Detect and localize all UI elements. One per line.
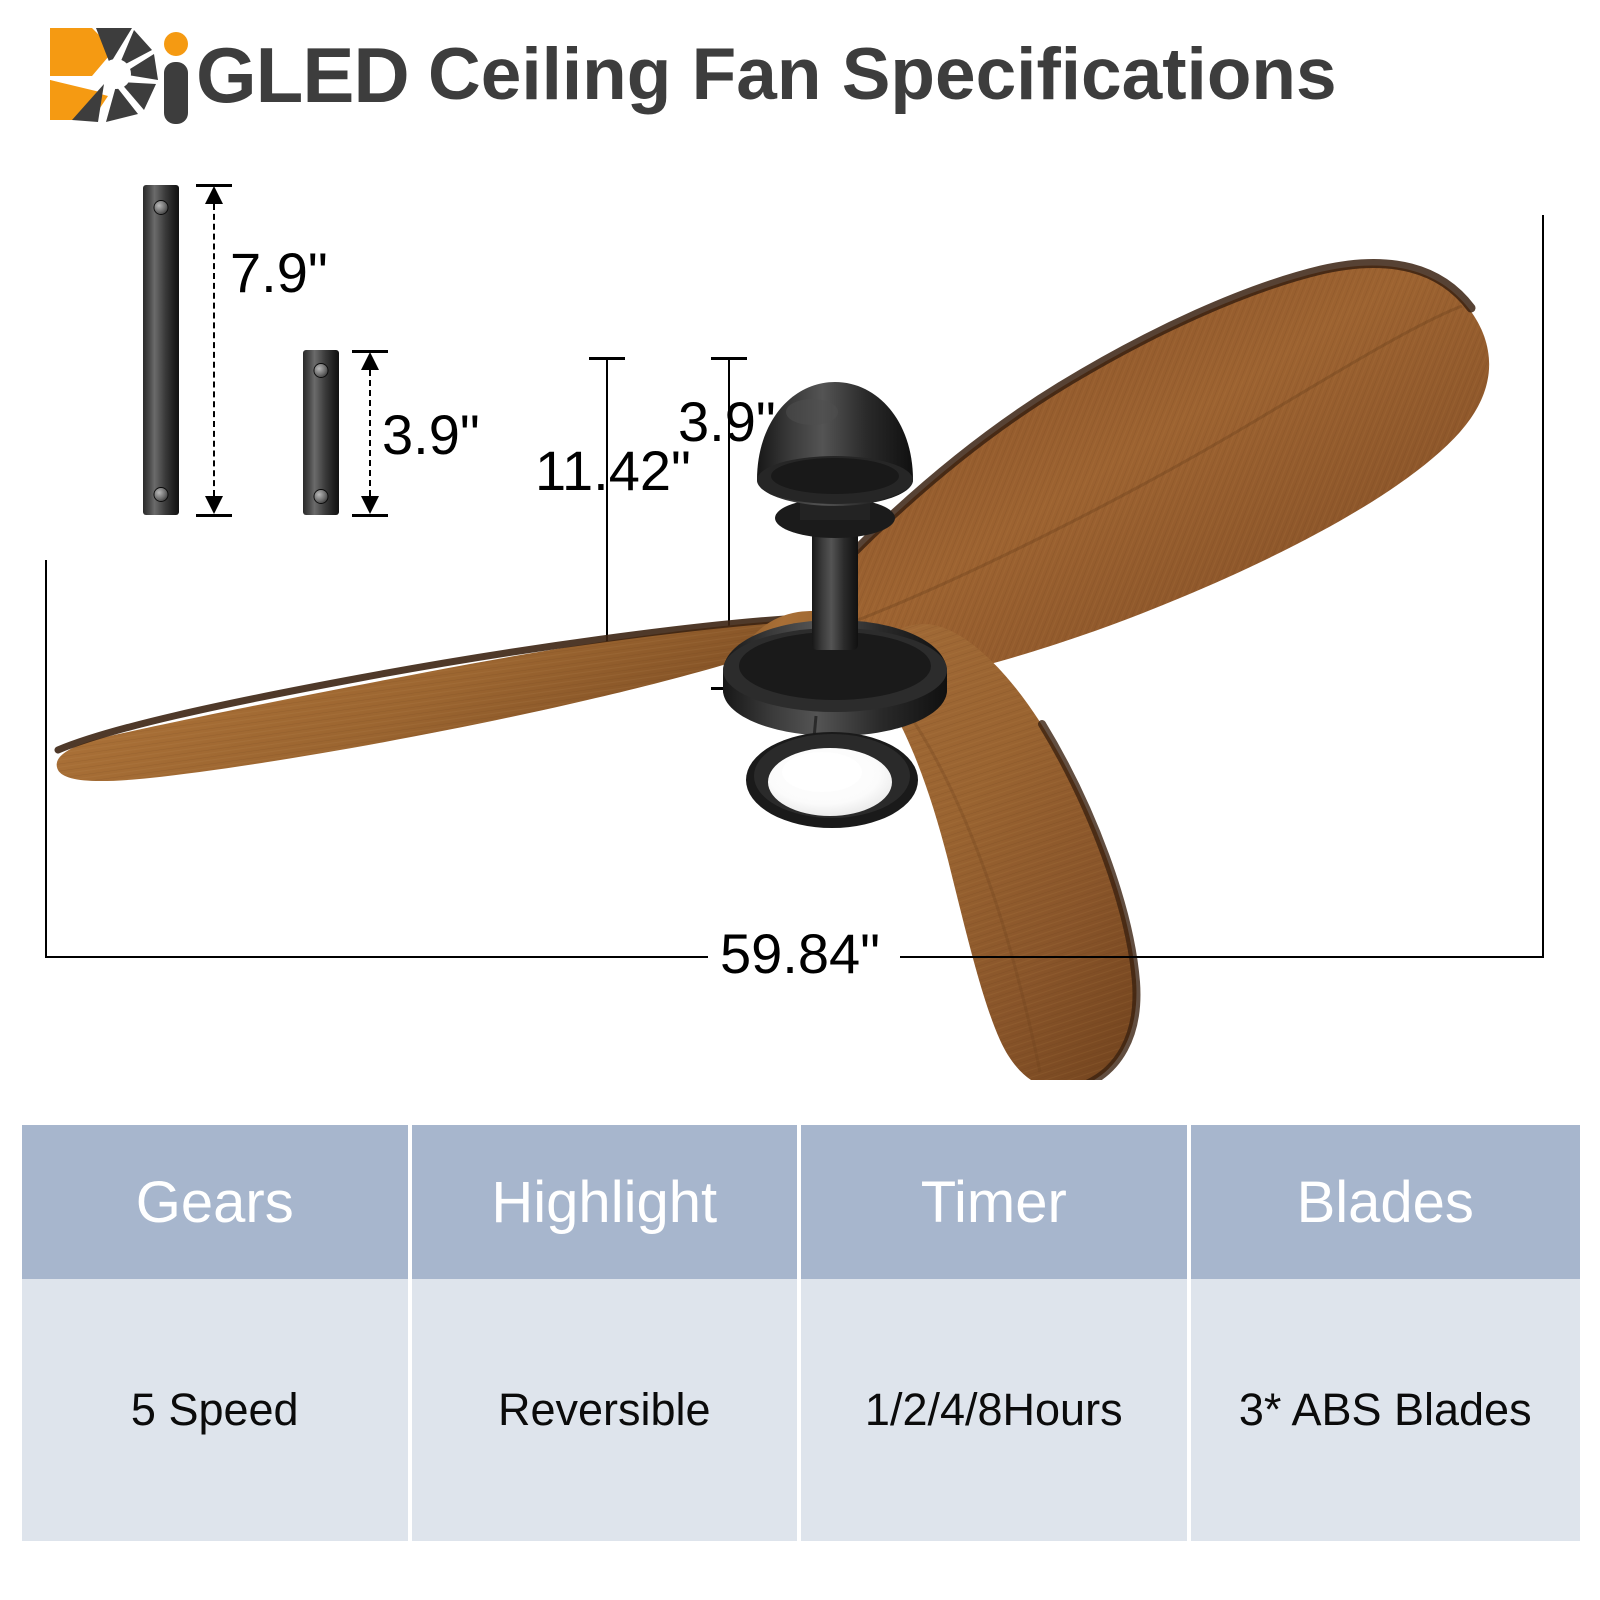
dim-ext-line-right: [1542, 215, 1544, 958]
fan-blade: [831, 264, 1489, 686]
specification-table: Gears Highlight Timer Blades 5 Speed Rev…: [22, 1125, 1580, 1541]
table-cell-gears: 5 Speed: [22, 1279, 412, 1541]
table-header-timer: Timer: [801, 1125, 1191, 1279]
table-cell-highlight: Reversible: [412, 1279, 802, 1541]
ceiling-canopy: [757, 382, 913, 538]
table-cell-blades: 3* ABS Blades: [1191, 1279, 1581, 1541]
page-title: Ceiling Fan Specifications: [428, 28, 1337, 122]
dim-label-blade-span: 59.84": [720, 925, 880, 983]
table-header-highlight: Highlight: [412, 1125, 802, 1279]
page-header: GLED Ceiling Fan Specifications: [0, 0, 1600, 150]
ceiling-fan-dimension-diagram: 7.9" 3.9" 11.42" 3.9": [0, 150, 1600, 1080]
dim-line-blade-span-right: [900, 956, 1544, 958]
dim-line-blade-span-left: [45, 956, 708, 958]
table-header-row: Gears Highlight Timer Blades: [22, 1125, 1580, 1279]
ceiling-fan-spec-sheet: GLED Ceiling Fan Specifications 7.9" 3.9…: [0, 0, 1600, 1600]
led-light-kit: [746, 732, 918, 828]
aperture-d-logo-icon: [48, 24, 163, 124]
table-cell-timer: 1/2/4/8Hours: [801, 1279, 1191, 1541]
table-header-blades: Blades: [1191, 1125, 1581, 1279]
dim-ext-line-left: [45, 560, 47, 958]
table-header-gears: Gears: [22, 1125, 412, 1279]
brand-name: GLED: [196, 28, 409, 122]
table-row: 5 Speed Reversible 1/2/4/8Hours 3* ABS B…: [22, 1279, 1580, 1541]
logo-letter-i-icon: [160, 30, 192, 125]
